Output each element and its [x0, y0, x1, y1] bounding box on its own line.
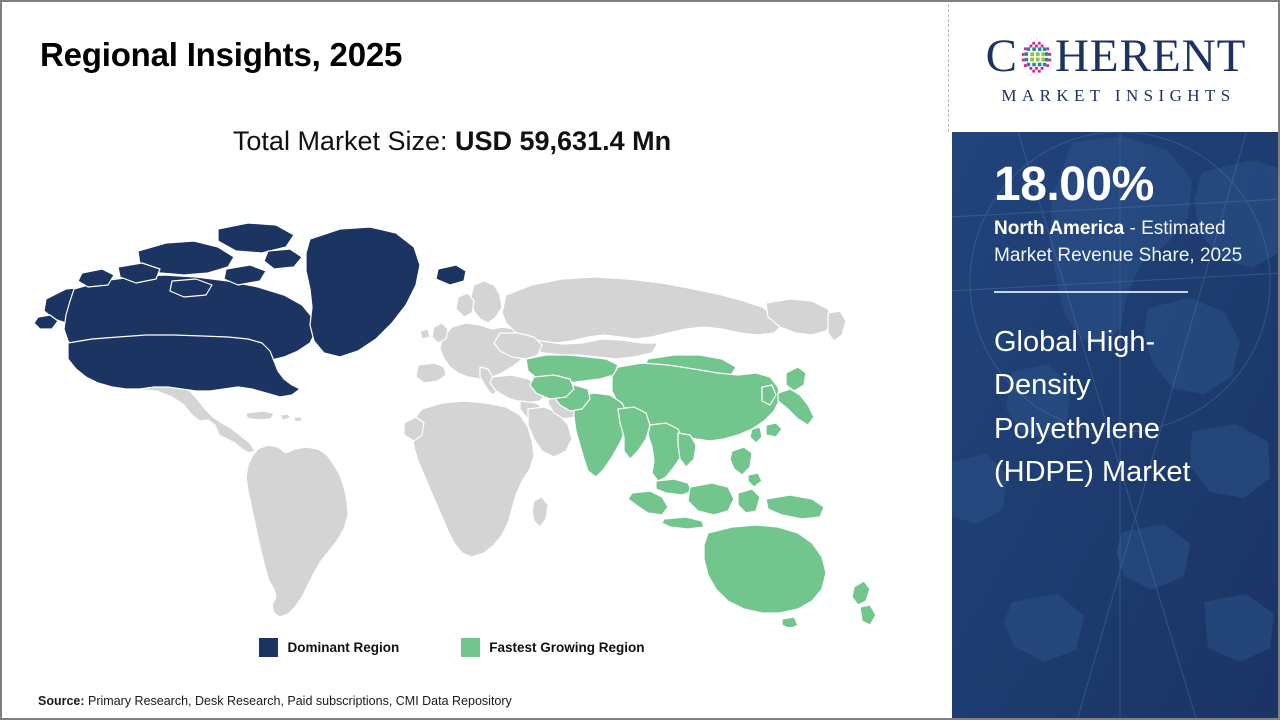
market-report-title: Global High-Density Polyethylene (HDPE) … [994, 321, 1244, 495]
stat-divider [994, 291, 1188, 293]
map-region-north-america [34, 223, 466, 397]
page-title: Regional Insights, 2025 [40, 36, 402, 74]
legend-item-dominant: Dominant Region [259, 638, 399, 657]
map-legend: Dominant Region Fastest Growing Region [2, 638, 902, 657]
logo-letter-c: C [986, 33, 1018, 80]
logo-wordmark-rest: HERENT [1055, 33, 1246, 80]
stat-caption: North America - Estimated Market Revenue… [994, 216, 1246, 268]
infographic-frame: Regional Insights, 2025 Total Market Siz… [0, 0, 1280, 720]
total-market-size-label: Total Market Size: [233, 126, 448, 156]
world-map-svg [22, 177, 922, 627]
stat-region-name: North America [994, 218, 1124, 239]
left-content-panel: Regional Insights, 2025 Total Market Siz… [2, 2, 950, 718]
panel-divider [948, 4, 949, 132]
legend-label-dominant: Dominant Region [287, 640, 399, 655]
square-swatch-icon [461, 638, 480, 657]
logo-subtitle: MARKET INSIGHTS [996, 86, 1235, 106]
source-text: Primary Research, Desk Research, Paid su… [85, 694, 512, 708]
source-note: Source: Primary Research, Desk Research,… [38, 694, 512, 708]
logo-wordmark: C [986, 33, 1247, 81]
legend-label-fastest-growing: Fastest Growing Region [489, 640, 644, 655]
stat-value: 18.00% [994, 160, 1246, 210]
source-label: Source: [38, 694, 85, 708]
brand-logo: C [952, 2, 1280, 132]
square-swatch-icon [259, 638, 278, 657]
total-market-size-value: USD 59,631.4 Mn [455, 126, 671, 156]
globe-dots-icon [1019, 39, 1054, 74]
stats-content: 18.00% North America - Estimated Market … [952, 132, 1280, 495]
legend-item-fastest-growing: Fastest Growing Region [461, 638, 644, 657]
map-region-asia-pacific [526, 355, 876, 627]
stats-panel: 18.00% North America - Estimated Market … [952, 132, 1280, 718]
total-market-size: Total Market Size: USD 59,631.4 Mn [2, 126, 902, 157]
world-map-container [22, 177, 922, 627]
